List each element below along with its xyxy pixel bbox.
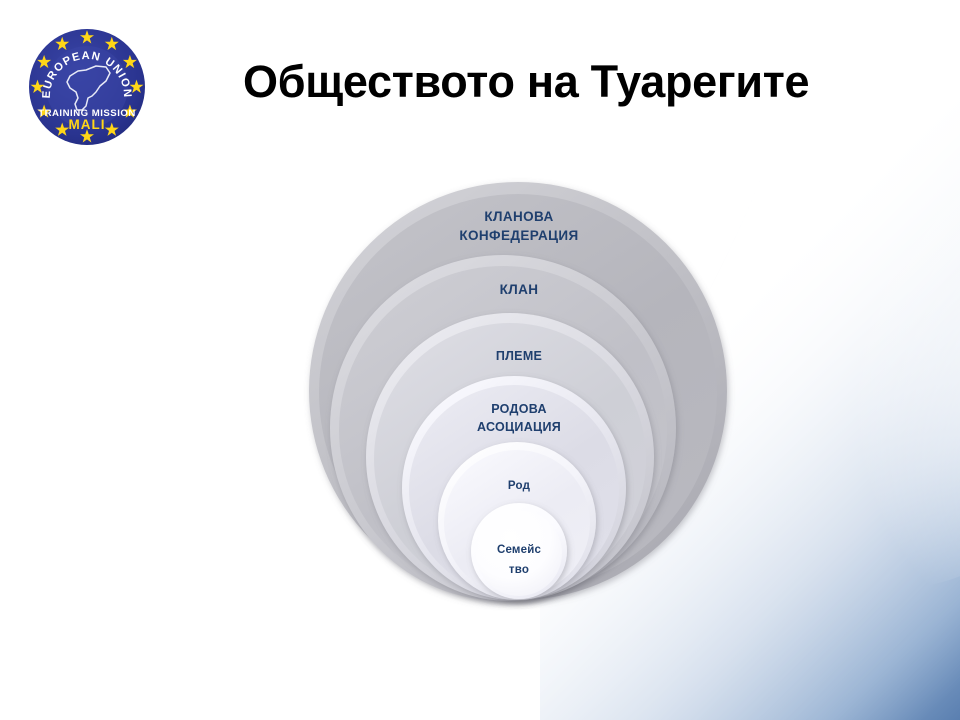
ring-label-clan-confederation-line1: КЛАНОВА [484,209,553,224]
logo-svg: EUROPEAN UNION TRAINING MISSION MALI [26,26,148,148]
ring-label-lineage-association-line2: АСОЦИАЦИЯ [477,420,561,434]
ring-label-clan: КЛАН [500,282,539,297]
ring-label-family-line1: Семейс [497,544,542,556]
ring-label-lineage: Род [508,480,531,492]
ring-label-clan-confederation-line2: КОНФЕДЕРАЦИЯ [459,228,578,243]
ring-label-family-line2: тво [509,564,529,576]
ring-label-lineage-association-line1: РОДОВА [491,402,547,416]
eu-training-mission-mali-logo: EUROPEAN UNION TRAINING MISSION MALI [26,26,148,148]
slide-title: Обществото на Туарегите [243,57,883,107]
logo-country-text: MALI [69,117,106,132]
ring-label-tribe: ПЛЕМЕ [496,349,542,363]
diagram-svg: КЛАНОВА КОНФЕДЕРАЦИЯ КЛАН ПЛЕМЕ РОДОВА А… [295,170,745,615]
slide-canvas: EUROPEAN UNION TRAINING MISSION MALI Общ… [0,0,960,720]
tuareg-society-diagram: КЛАНОВА КОНФЕДЕРАЦИЯ КЛАН ПЛЕМЕ РОДОВА А… [295,170,745,615]
